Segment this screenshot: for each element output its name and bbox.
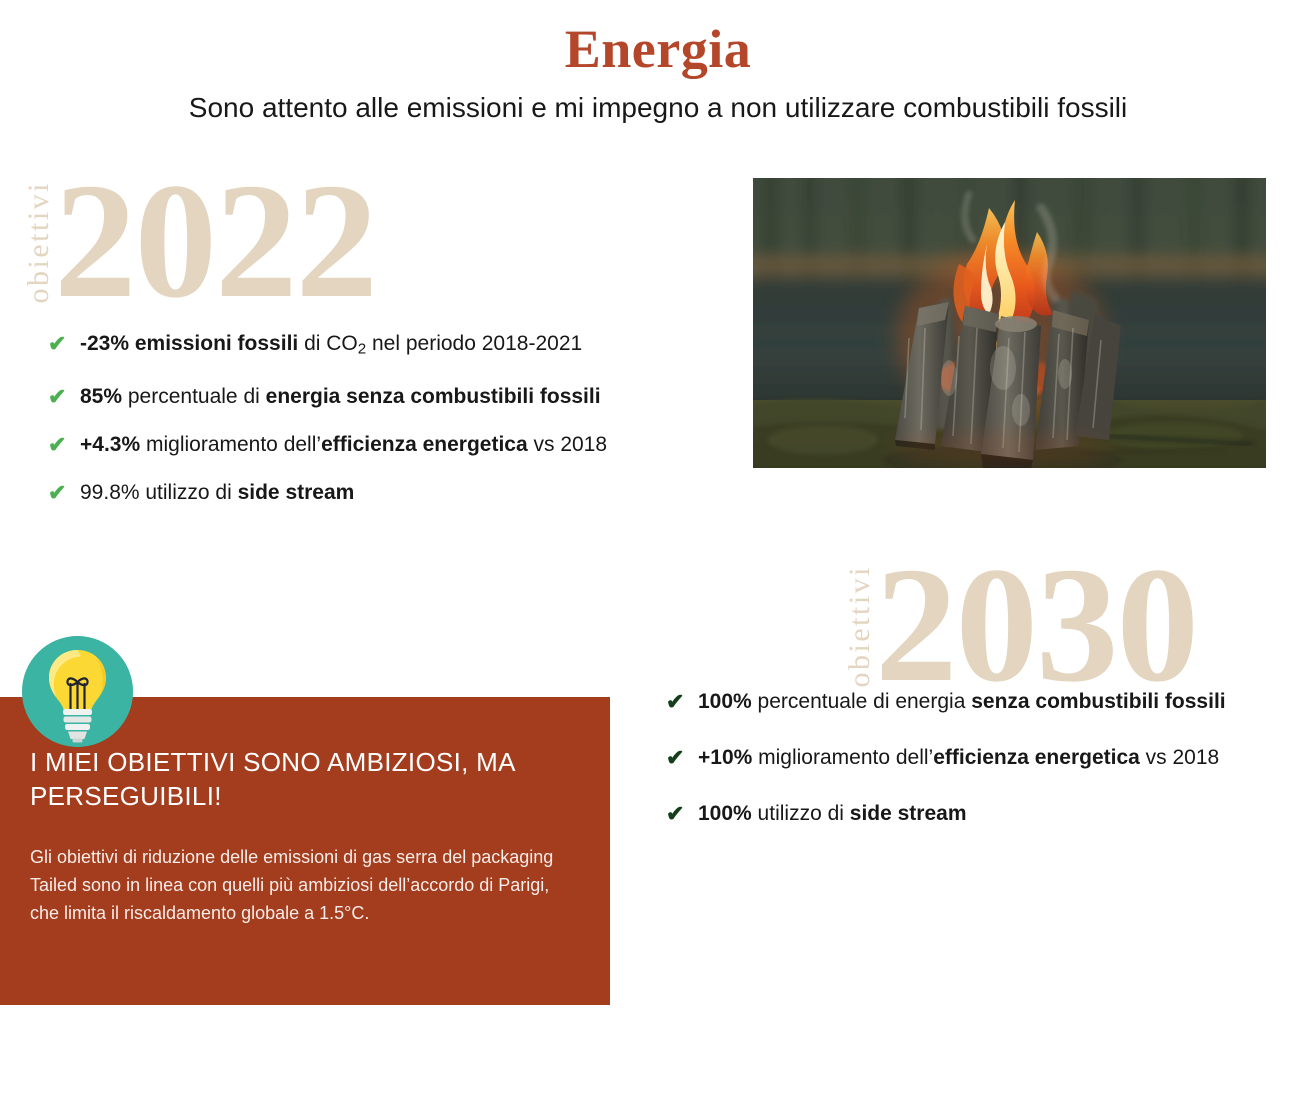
campfire-illustration [753, 178, 1266, 468]
year-2030-number: 2030 [875, 552, 1197, 697]
list-item: ✔ 85% percentuale di energia senza combu… [48, 383, 607, 411]
list-item: ✔ 100% percentuale di energia senza comb… [666, 688, 1226, 716]
list-item-label: +4.3% miglioramento dell’efficienza ener… [80, 431, 607, 459]
lightbulb-glyph [22, 636, 133, 747]
year-2022-number: 2022 [54, 168, 376, 313]
year-2030-obiettivi-label: obiettivi [845, 565, 875, 688]
goals-list-2022: ✔ -23% emissioni fossili di CO2 nel peri… [48, 330, 607, 527]
list-item-label: 85% percentuale di energia senza combust… [80, 383, 601, 411]
year-2022-obiettivi-label: obiettivi [24, 181, 54, 304]
year-heading-2030: obiettivi 2030 [845, 552, 1197, 697]
check-icon: ✔ [48, 431, 72, 459]
list-item: ✔ +4.3% miglioramento dell’efficienza en… [48, 431, 607, 459]
callout-heading: I MIEI OBIETTIVI SONO AMBIZIOSI, MA PERS… [30, 745, 564, 813]
list-item-label: +10% miglioramento dell’efficienza energ… [698, 744, 1219, 772]
list-item: ✔ 99.8% utilizzo di side stream [48, 479, 607, 507]
callout-body: Gli obiettivi di riduzione delle emissio… [30, 843, 560, 927]
check-icon: ✔ [48, 330, 72, 358]
year-heading-2022: obiettivi 2022 [24, 168, 376, 313]
list-item: ✔ +10% miglioramento dell’efficienza ene… [666, 744, 1226, 772]
check-icon: ✔ [666, 688, 690, 716]
list-item-label: 99.8% utilizzo di side stream [80, 479, 354, 507]
campfire-photo [753, 178, 1266, 468]
goals-list-2030: ✔ 100% percentuale di energia senza comb… [666, 688, 1226, 856]
check-icon: ✔ [48, 479, 72, 507]
page-subtitle: Sono attento alle emissioni e mi impegno… [0, 90, 1316, 126]
list-item: ✔ 100% utilizzo di side stream [666, 800, 1226, 828]
list-item: ✔ -23% emissioni fossili di CO2 nel peri… [48, 330, 607, 363]
check-icon: ✔ [666, 800, 690, 828]
lightbulb-icon [22, 636, 133, 747]
page-title: Energia [0, 18, 1316, 80]
check-icon: ✔ [48, 383, 72, 411]
list-item-label: -23% emissioni fossili di CO2 nel period… [80, 330, 582, 363]
list-item-label: 100% utilizzo di side stream [698, 800, 967, 828]
check-icon: ✔ [666, 744, 690, 772]
list-item-label: 100% percentuale di energia senza combus… [698, 688, 1226, 716]
